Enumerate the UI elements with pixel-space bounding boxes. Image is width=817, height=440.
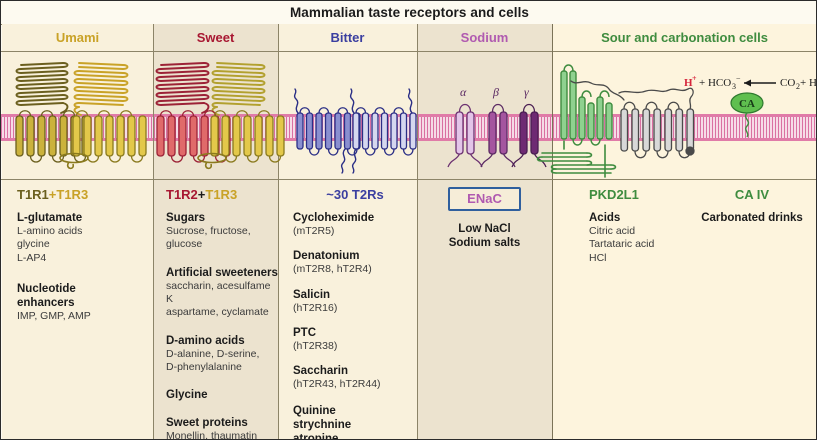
- ligand-group: Acids Citric acid Tartataric acid HCl: [589, 211, 687, 265]
- ligand-sub: D-alanine, D-serine,: [166, 348, 278, 361]
- receptor-part-t2rs: ~30 T2Rs: [326, 187, 383, 202]
- equation-plus-bicarbonate: + HCO: [699, 77, 731, 89]
- ligand-group: Denatonium (mT2R8, hT2R4): [293, 249, 417, 276]
- panel-pkd2l1: PKD2L1 Acids Citric acid Tartataric acid…: [552, 187, 687, 276]
- ligand-bold: Carbonated drinks: [687, 211, 817, 225]
- ligand-sub: saccharin, acesulfame K: [166, 280, 278, 307]
- ligand-group: PTC (hT2R38): [293, 326, 417, 353]
- ligand-bold: Cycloheximide: [293, 211, 417, 225]
- ligand-sub: Monellin, thaumatin: [166, 430, 278, 440]
- enac-receptor-box: ENaC: [448, 187, 521, 211]
- ligand-group: Carbonated drinks: [687, 211, 817, 225]
- receptor-title-sweet: T1R2+T1R3: [166, 187, 278, 202]
- panel-sour: PKD2L1 Acids Citric acid Tartataric acid…: [552, 187, 817, 276]
- ligand-group: Low NaCl Sodium salts: [417, 222, 552, 250]
- ligand-bold: Sugars: [166, 211, 278, 225]
- ligand-sub: L-AP4: [17, 252, 149, 265]
- ligand-group: Cycloheximide (mT2R5): [293, 211, 417, 238]
- ligand-sub: Tartataric acid: [589, 238, 687, 251]
- taste-receptor-figure: Mammalian taste receptors and cells Umam…: [0, 0, 817, 440]
- equation-plus-water: + H: [800, 77, 817, 89]
- ligand-group: Sweet proteins Monellin, thaumatin: [166, 416, 278, 440]
- ligand-bold: Salicin: [293, 288, 417, 302]
- ligand-sub: (hT2R43, hT2R44): [293, 378, 417, 391]
- t1r1-extracellular-domain: [17, 63, 68, 113]
- t1r2-extracellular-domain: [157, 63, 209, 113]
- ligand-bold: Acids: [589, 211, 687, 225]
- t2r-receptor-2: [353, 108, 416, 155]
- pkd2l1-cytoplasmic-coil: [538, 141, 616, 177]
- sour-cell-diagram: CA H + + HCO 3 − CO 2 + H 2 O: [538, 65, 817, 177]
- ligand-group: Sugars Sucrose, fructose, glucose: [166, 211, 278, 252]
- ligand-bold: Low NaCl: [417, 222, 552, 236]
- enac-channel-diagram: α β γ: [448, 85, 546, 167]
- panel-umami: T1R1+T1R3 L-glutamate L-amino acids glyc…: [17, 187, 149, 334]
- ligand-sub: (hT2R38): [293, 340, 417, 353]
- ligand-bold: PTC: [293, 326, 417, 340]
- receptor-title-umami: T1R1+T1R3: [17, 187, 149, 202]
- equation-bicarb-sub: 3: [732, 82, 736, 91]
- grey-channel: [621, 109, 694, 151]
- t1r3-extracellular-domain: [75, 63, 128, 115]
- ligand-group: D-amino acids D-alanine, D-serine, D-phe…: [166, 334, 278, 375]
- enac-beta-label: β: [492, 85, 499, 99]
- t2r-receptor-1: [297, 108, 360, 155]
- receptor-part-t1r3-sweet: T1R3: [205, 187, 237, 202]
- enac-alpha-subunit: [448, 105, 482, 168]
- ligand-group: Nucleotide enhancers IMP, GMP, AMP: [17, 282, 149, 323]
- ligand-sub: aspartame, cyclamate: [166, 306, 278, 319]
- equation-arrow-head: [744, 80, 751, 87]
- pkd2l1-channel: [561, 71, 612, 139]
- panel-sweet: T1R2+T1R3 Sugars Sucrose, fructose, gluc…: [166, 187, 278, 440]
- ligand-sub: (mT2R8, hT2R4): [293, 263, 417, 276]
- bitter-receptor-diagram: [295, 89, 416, 173]
- ligand-bold: Nucleotide enhancers: [17, 282, 149, 310]
- ligand-group: Quinine strychnine atropine: [293, 404, 417, 440]
- ligand-group: L-glutamate L-amino acids glycine L-AP4: [17, 211, 149, 265]
- receptor-part-ca-iv: CA IV: [735, 187, 769, 202]
- ligand-group: Glycine: [166, 388, 278, 402]
- ligand-sub: D-phenylalanine: [166, 361, 278, 374]
- ligand-sub: (mT2R5): [293, 225, 417, 238]
- ligand-sub: HCl: [589, 252, 687, 265]
- ligand-bold: Sweet proteins: [166, 416, 278, 430]
- ligand-group: Artificial sweeteners saccharin, acesulf…: [166, 266, 278, 320]
- umami-receptor-diagram: [16, 63, 146, 168]
- ligand-bold: Saccharin: [293, 364, 417, 378]
- ligand-sub: glucose: [166, 238, 278, 251]
- carbonation-equation: H + + HCO 3 − CO 2 + H 2 O: [684, 74, 817, 91]
- divider-diagram-text: [1, 179, 817, 180]
- ligand-bold: L-glutamate: [17, 211, 149, 225]
- ligand-group: Salicin (hT2R16): [293, 288, 417, 315]
- ligand-bold: Denatonium: [293, 249, 417, 263]
- panel-bitter: ~30 T2Rs Cycloheximide (mT2R5) Denatoniu…: [293, 187, 417, 440]
- enac-gamma-label: γ: [524, 85, 529, 99]
- ligand-bold: Artificial sweeteners: [166, 266, 278, 280]
- ligand-sub: (hT2R16): [293, 302, 417, 315]
- ca-enzyme-label: CA: [739, 98, 755, 110]
- ca-anchor: [746, 113, 749, 137]
- ligand-sub: Citric acid: [589, 225, 687, 238]
- receptor-title-ca-iv: CA IV: [687, 187, 817, 202]
- receptor-part-t1r1: T1R1: [17, 187, 49, 202]
- ligand-bold: Sodium salts: [417, 236, 552, 250]
- receptor-part-t1r3: T1R3: [56, 187, 88, 202]
- equation-proton-charge: +: [692, 74, 697, 83]
- receptor-part-enac: ENaC: [467, 191, 502, 206]
- ligand-bold: D-amino acids: [166, 334, 278, 348]
- panel-ca-iv: CA IV Carbonated drinks: [687, 187, 817, 276]
- ligand-sub: IMP, GMP, AMP: [17, 310, 149, 323]
- receptor-part-t1r2: T1R2: [166, 187, 198, 202]
- receptor-part-pkd2l1: PKD2L1: [589, 187, 639, 202]
- t1r3-extracellular-domain-sweet: [213, 63, 265, 115]
- receptor-title-pkd2l1: PKD2L1: [589, 187, 687, 202]
- panel-sodium: ENaC Low NaCl Sodium salts: [417, 187, 552, 261]
- equation-co2: CO: [780, 77, 795, 89]
- ligand-sub: glycine: [17, 238, 149, 251]
- ligand-sub: Sucrose, fructose,: [166, 225, 278, 238]
- ligand-group: Saccharin (hT2R43, hT2R44): [293, 364, 417, 391]
- ligand-bold: Quinine strychnine atropine: [293, 404, 417, 440]
- receptor-title-sodium: ENaC: [467, 191, 502, 206]
- carbonic-anhydrase-enzyme: CA: [731, 93, 763, 137]
- receptor-diagrams: α β γ: [1, 1, 817, 179]
- enac-beta-subunit: [481, 105, 515, 168]
- receptor-title-bitter: ~30 T2Rs: [293, 187, 417, 202]
- ligand-bold: Glycine: [166, 388, 278, 402]
- enac-alpha-label: α: [460, 85, 467, 99]
- equation-bicarb-charge: −: [736, 74, 741, 83]
- ligand-sub: L-amino acids: [17, 225, 149, 238]
- sweet-receptor-diagram: [157, 63, 285, 168]
